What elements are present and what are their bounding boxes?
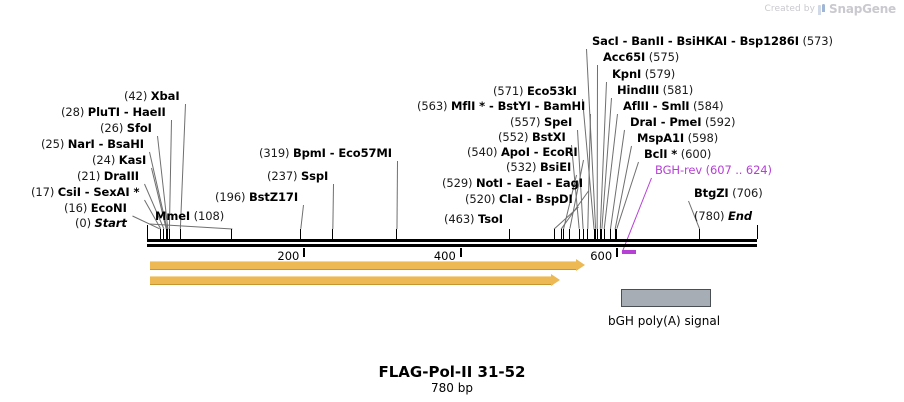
enzyme-name: ApoI [501, 145, 530, 159]
cut-site-tick-mmei [231, 229, 232, 239]
cut-site-tick-draiii [163, 229, 164, 239]
name-separator: - [657, 115, 669, 129]
enzyme-name: KasI [119, 153, 146, 167]
cut-site-tick-apoi [569, 229, 570, 239]
site-label-bpmi: (319) BpmI - Eco57MI [259, 148, 392, 160]
site-position: (571) [493, 84, 527, 98]
enzyme-name: Eco57MI [338, 146, 392, 160]
site-label-nari: (25) NarI - BsaHI [41, 139, 144, 151]
site-position: (529) [442, 176, 476, 190]
cut-site-tick-pluti [169, 229, 170, 239]
bgh-polya-signal-label: bGH poly(A) signal [608, 314, 720, 328]
site-position: (319) [259, 146, 293, 160]
site-label-csii: (17) CsiI - SexAI * [31, 187, 139, 199]
enzyme-name: BsiEI [540, 160, 571, 174]
watermark-brand: SnapGene [829, 2, 896, 16]
site-label-mspa1i: MspA1I (598) [637, 133, 718, 145]
ruler-tick-400 [460, 248, 462, 257]
snapgene-logo-icon [818, 4, 826, 15]
site-label-tsoi: (463) TsoI [444, 214, 503, 226]
enzyme-name: MflI * [451, 99, 485, 113]
cut-site-tick-aflii [604, 229, 605, 239]
site-position: (581) [659, 83, 693, 97]
enzyme-name: CsiI [58, 185, 81, 199]
enzyme-name: DraIII [104, 169, 139, 183]
ruler-label-600: 600 [590, 249, 612, 263]
leader-line-bpmi [396, 161, 398, 229]
cut-site-tick-spei [583, 229, 584, 239]
name-separator: - [95, 137, 107, 151]
name-separator: - [81, 185, 93, 199]
leader-line-sspi [332, 184, 334, 229]
site-label-mfli: (563) MflI * - BstYI - BamHI [417, 101, 585, 113]
site-label-spei: (557) SpeI [510, 117, 572, 129]
site-position: (592) [701, 115, 735, 129]
cut-site-tick-noti [561, 229, 562, 239]
site-label-econi: (16) EcoNI [64, 203, 127, 215]
enzyme-name: PluTI [88, 105, 120, 119]
enzyme-name: XbaI [151, 89, 180, 103]
site-label-end: (780) End [694, 211, 752, 223]
enzyme-name: TsoI [478, 212, 503, 226]
enzyme-name: BsaHI [107, 137, 144, 151]
enzyme-name: BanII [631, 34, 664, 48]
site-position: (540) [467, 145, 501, 159]
enzyme-name: BclI * [644, 147, 677, 161]
leader-line-bstz17i [300, 205, 304, 229]
site-label-kpni: KpnI (579) [612, 69, 675, 81]
enzyme-name: BtgZI [694, 186, 729, 200]
enzyme-name: HaeII [132, 105, 165, 119]
enzyme-name: Start [95, 216, 127, 230]
site-label-acc65i: Acc65I (575) [603, 52, 679, 64]
enzyme-name: SexAI * [93, 185, 139, 199]
enzyme-name: SspI [301, 169, 328, 183]
sequence-length-label: 780 bp [0, 381, 904, 395]
site-position: (532) [506, 160, 540, 174]
site-position: (24) [92, 153, 119, 167]
enzyme-name: DraI [630, 115, 657, 129]
orf-arrow-1 [150, 261, 585, 268]
cut-site-tick-hindiii [601, 229, 602, 239]
site-label-bcli: BclI * (600) [644, 149, 711, 161]
cut-site-tick-acc65i [597, 229, 598, 239]
orf-arrow-2 [150, 276, 560, 283]
cut-site-tick-end [757, 225, 758, 239]
site-position: (196) [215, 190, 249, 204]
site-label-kasi: (24) KasI [92, 155, 146, 167]
cut-site-tick-sspi [332, 229, 333, 239]
enzyme-name: MmeI [155, 209, 190, 223]
enzyme-name: KpnI [612, 67, 641, 81]
site-label-mmei: MmeI (108) [155, 211, 224, 223]
site-position: (17) [31, 185, 58, 199]
site-position: (26) [100, 121, 127, 135]
enzyme-name: End [728, 209, 752, 223]
site-position: (557) [510, 115, 544, 129]
name-separator: - [727, 34, 739, 48]
enzyme-name: BsiHKAI [677, 34, 728, 48]
enzyme-name: NarI [68, 137, 95, 151]
sequence-backbone-top-strand [147, 239, 757, 242]
enzyme-name: ClaI [499, 192, 523, 206]
site-position: (598) [684, 131, 718, 145]
enzyme-name: Bsp1286I [740, 34, 799, 48]
site-position: (108) [190, 209, 224, 223]
site-position: (0) [75, 216, 95, 230]
enzyme-name: MspA1I [637, 131, 684, 145]
enzyme-name: EagI [555, 176, 583, 190]
site-position: (21) [77, 169, 104, 183]
snapgene-watermark: Created by SnapGene [765, 2, 896, 16]
site-label-clai: (520) ClaI - BspDI [465, 194, 573, 206]
name-separator: - [326, 146, 338, 160]
cut-site-tick-clai [554, 229, 555, 239]
site-label-saci: SacI - BanII - BsiHKAI - Bsp1286I (573) [592, 36, 833, 48]
site-label-pluti: (28) PluTI - HaeII [61, 107, 166, 119]
enzyme-name: SfoI [127, 121, 152, 135]
site-position: (575) [645, 50, 679, 64]
watermark-prefix: Created by [765, 4, 816, 14]
feature-bar-bgh-rev [622, 250, 636, 254]
enzyme-name: EcoRI [542, 145, 577, 159]
cut-site-tick-bcli [616, 229, 617, 239]
name-separator: - [530, 145, 542, 159]
cut-site-tick-bsiei [563, 229, 564, 239]
enzyme-name: AflII [623, 99, 649, 113]
site-position: (706) [729, 186, 763, 200]
name-separator: - [523, 192, 535, 206]
enzyme-name: BamHI [543, 99, 585, 113]
site-position: (584) [689, 99, 723, 113]
enzyme-name: BstZ17I [249, 190, 298, 204]
site-position: (600) [677, 147, 711, 161]
enzyme-name: Acc65I [603, 50, 645, 64]
enzyme-name: SacI [592, 34, 619, 48]
enzyme-name: BspDI [536, 192, 573, 206]
enzyme-name: BstYI [498, 99, 531, 113]
feature-label-bgh-rev: BGH-rev (607 .. 624) [655, 165, 772, 177]
cut-site-tick-bstxi [579, 229, 580, 239]
site-label-noti: (529) NotI - EaeI - EagI [442, 178, 583, 190]
site-label-start: (0) Start [75, 218, 127, 230]
cut-site-tick-mfli [587, 229, 588, 239]
cut-site-tick-tsoi [509, 229, 510, 239]
enzyme-name: NotI [476, 176, 503, 190]
site-label-bstz17i: (196) BstZ17I [215, 192, 298, 204]
cut-site-tick-xbai [180, 229, 181, 239]
site-label-bstxi: (552) BstXI [498, 132, 566, 144]
site-label-drai: DraI - PmeI (592) [630, 117, 735, 129]
enzyme-name: PmeI [669, 115, 701, 129]
sequence-map-canvas: Created by SnapGene (0) Start(16) EcoNI(… [0, 0, 904, 402]
ruler-tick-200 [303, 248, 305, 257]
site-label-xbai: (42) XbaI [124, 91, 180, 103]
site-label-apoi: (540) ApoI - EcoRI [467, 147, 578, 159]
enzyme-name: BpmI [293, 146, 326, 160]
site-position: (463) [444, 212, 478, 226]
site-position: (237) [267, 169, 301, 183]
enzyme-name: HindIII [617, 83, 659, 97]
page-title: FLAG-Pol-II 31-52 [0, 363, 904, 381]
site-position: (25) [41, 137, 68, 151]
enzyme-name: EaeI [515, 176, 542, 190]
ruler-tick-600 [616, 248, 618, 257]
site-label-sspi: (237) SspI [267, 171, 328, 183]
name-separator: - [664, 34, 676, 48]
cut-site-tick-csii [160, 229, 161, 239]
enzyme-name: Eco53kI [527, 84, 577, 98]
name-separator: - [619, 34, 631, 48]
enzyme-name: SpeI [544, 115, 572, 129]
name-separator: - [485, 99, 497, 113]
site-label-btgzi: BtgZI (706) [694, 188, 763, 200]
name-separator: - [543, 176, 555, 190]
cut-site-tick-start [147, 225, 148, 239]
name-separator: - [649, 99, 661, 113]
site-label-aflii: AflII - SmlI (584) [623, 101, 723, 113]
enzyme-name: SmlI [661, 99, 689, 113]
site-position: (780) [694, 209, 728, 223]
cut-site-tick-drai [610, 229, 611, 239]
site-position: (573) [799, 34, 833, 48]
site-position: (42) [124, 89, 151, 103]
feature-range: (607 .. 624) [702, 163, 772, 177]
enzyme-name: BstXI [532, 130, 566, 144]
site-label-draiii: (21) DraIII [77, 171, 139, 183]
site-label-hindiii: HindIII (581) [617, 85, 693, 97]
name-separator: - [120, 105, 132, 119]
enzyme-name: EcoNI [91, 201, 127, 215]
site-position: (28) [61, 105, 88, 119]
site-label-eco53ki: (571) Eco53kI [493, 86, 577, 98]
site-position: (552) [498, 130, 532, 144]
site-position: (16) [64, 201, 91, 215]
leader-line-acc65i [597, 65, 598, 229]
bgh-polya-signal-box [621, 289, 711, 307]
name-separator: - [503, 176, 515, 190]
site-position: (563) [417, 99, 451, 113]
name-separator: - [531, 99, 543, 113]
site-position: (520) [465, 192, 499, 206]
sequence-backbone-bottom-strand [147, 244, 757, 247]
site-label-bsiei: (532) BsiEI [506, 162, 571, 174]
cut-site-tick-bstz17i [300, 229, 301, 239]
site-position: (579) [641, 67, 675, 81]
feature-name: BGH-rev [655, 163, 702, 177]
cut-site-tick-btgzi [699, 229, 700, 239]
site-label-sfoi: (26) SfoI [100, 123, 152, 135]
cut-site-tick-bpmi [396, 229, 397, 239]
